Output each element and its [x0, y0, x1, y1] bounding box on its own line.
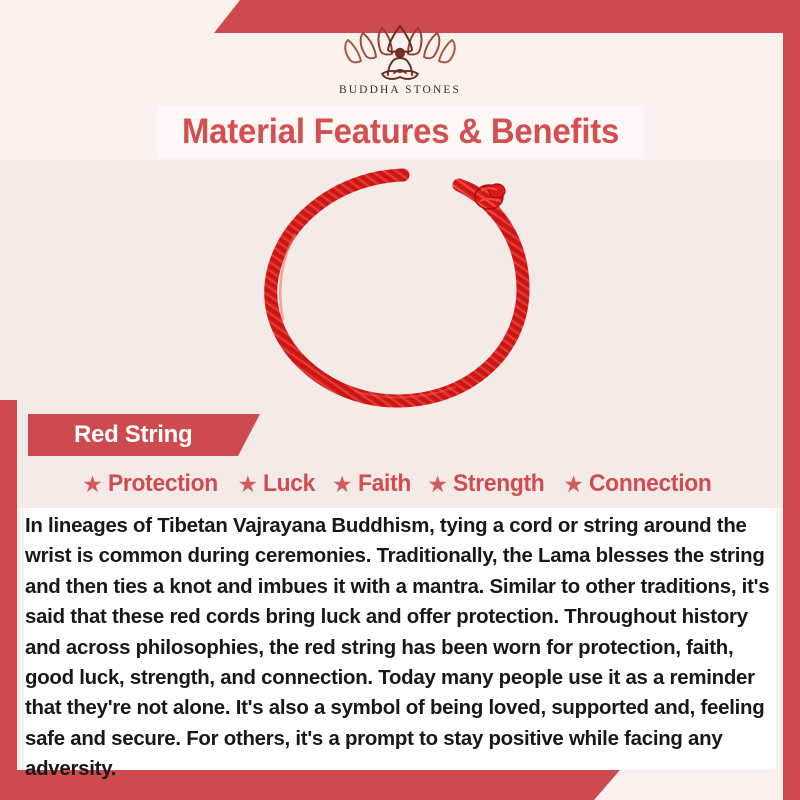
product-name-ribbon: Red String [28, 414, 260, 456]
brand-logo: BUDDHA STONES [0, 22, 800, 100]
feature-item: ★ Strength [427, 470, 549, 498]
star-icon: ★ [563, 473, 584, 496]
feature-label: Luck [263, 470, 315, 498]
description-text: In lineages of Tibetan Vajrayana Buddhis… [25, 511, 773, 785]
page-title: Material Features & Benefits [182, 112, 619, 152]
feature-item: ★ Connection [563, 470, 718, 498]
feature-item: ★ Luck [237, 470, 317, 498]
feature-label: Faith [358, 470, 411, 498]
feature-list: ★ Protection ★ Luck ★ Faith ★ Strength ★… [17, 466, 783, 502]
lotus-meditation-icon [324, 22, 476, 82]
feature-label: Strength [453, 470, 544, 498]
infographic-page: BUDDHA STONES Material Features & Benefi… [0, 0, 800, 800]
feature-item: ★ Protection [82, 470, 223, 498]
star-icon: ★ [332, 473, 353, 496]
product-name: Red String [74, 421, 192, 449]
red-string-bracelet-illustration [235, 165, 565, 415]
brand-name: BUDDHA STONES [339, 84, 461, 96]
page-title-band: Material Features & Benefits [157, 105, 644, 159]
product-image [0, 165, 800, 415]
decorative-bar-left [0, 400, 17, 800]
star-icon: ★ [237, 473, 258, 496]
feature-item: ★ Faith [332, 470, 413, 498]
feature-label: Protection [108, 470, 218, 498]
feature-label: Connection [589, 470, 712, 498]
star-icon: ★ [427, 473, 448, 496]
star-icon: ★ [82, 473, 103, 496]
